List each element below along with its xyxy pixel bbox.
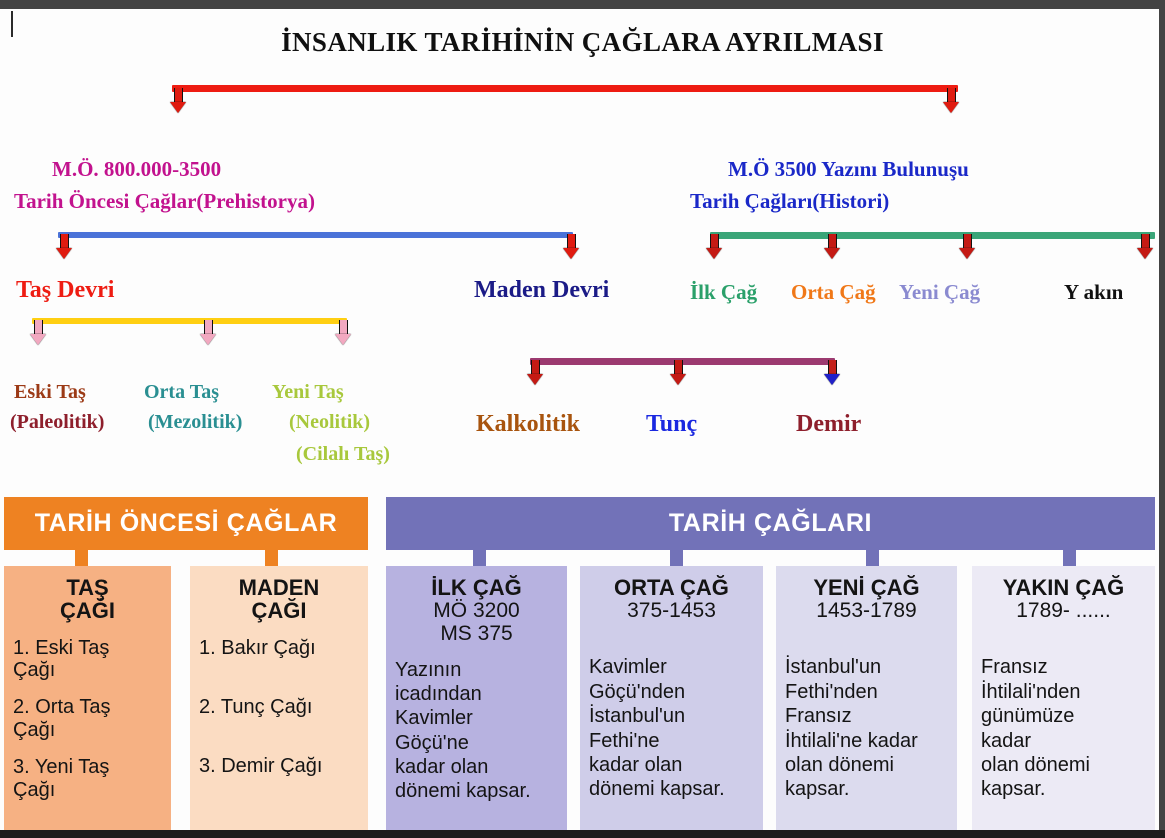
card-body: Yazının icadından Kavimler Göçü'ne kadar… [395, 658, 558, 804]
label-yakin-cag: Y akın [1064, 280, 1123, 305]
card-title: YAKIN ÇAĞ [981, 576, 1146, 599]
label-stone-age: Taş Devri [16, 277, 114, 304]
card-title: TAŞ ÇAĞI [13, 576, 162, 623]
label-orta-tas: Orta Taş [144, 381, 219, 404]
label-cilali-tas: (Cilalı Taş) [296, 443, 390, 466]
window-top-border [0, 0, 1165, 9]
label-history-name: Tarih Çağları(Histori) [690, 189, 889, 214]
card-subtitle: 1453-1789 [785, 599, 948, 622]
card-orta-cag[interactable]: ORTA ÇAĞ 375-1453 Kavimler Göçü'nden İst… [580, 566, 763, 830]
card-tas-cagi[interactable]: TAŞ ÇAĞI 1. Eski Taş Çağı 2. Orta Taş Ça… [4, 566, 171, 830]
arrow-kalkolitik [527, 360, 543, 385]
label-paleolitik: (Paleolitik) [10, 411, 104, 434]
connector-stem-maden [265, 550, 278, 566]
card-subtitle: MÖ 3200 MS 375 [395, 599, 558, 645]
window-bottom-border [0, 830, 1165, 838]
arrow-tunc [670, 360, 686, 385]
arrow-paleolitik [30, 320, 46, 345]
label-eski-tas: Eski Taş [14, 381, 86, 404]
label-prehistory-name: Tarih Öncesi Çağlar(Prehistorya) [14, 189, 315, 214]
label-demir: Demir [796, 411, 861, 438]
arrow-yeni-cag [959, 234, 975, 259]
label-mezolitik: (Mezolitik) [148, 411, 242, 434]
list-item: 3. Yeni Taş Çağı [13, 756, 162, 801]
arrow-top-right [943, 88, 959, 113]
card-yakin-cag[interactable]: YAKIN ÇAĞ 1789- ...... Fransız İhtilali'… [972, 566, 1155, 830]
list-item: 3. Demir Çağı [199, 755, 359, 777]
label-tunc: Tunç [646, 411, 697, 438]
card-body: Kavimler Göçü'nden İstanbul'un Fethi'ne … [589, 655, 754, 801]
arrow-stone-age [56, 234, 72, 259]
card-subtitle: 375-1453 [589, 599, 754, 622]
section-header-history: TARİH ÇAĞLARI [386, 497, 1155, 550]
label-history-date: M.Ö 3500 Yazını Bulunuşu [728, 157, 969, 182]
label-prehistory-date: M.Ö. 800.000-3500 [52, 157, 221, 182]
label-yeni-tas: Yeni Taş [272, 381, 344, 404]
slide-canvas: İNSANLIK TARİHİNİN ÇAĞLARA AYRILMASI M.Ö… [0, 0, 1165, 838]
page-title: İNSANLIK TARİHİNİN ÇAĞLARA AYRILMASI [0, 27, 1165, 58]
card-ilk-cag[interactable]: İLK ÇAĞ MÖ 3200 MS 375 Yazının icadından… [386, 566, 567, 830]
card-body: İstanbul'un Fethi'nden Fransız İhtilali'… [785, 655, 948, 801]
card-maden-cagi[interactable]: MADEN ÇAĞI 1. Bakır Çağı 2. Tunç Çağı 3.… [190, 566, 368, 830]
label-neolitik: (Neolitik) [289, 411, 370, 434]
card-title: MADEN ÇAĞI [199, 576, 359, 623]
connector-stem-tas [75, 550, 88, 566]
arrow-orta-cag [824, 234, 840, 259]
arrow-demir [824, 360, 840, 385]
card-list: 1. Eski Taş Çağı 2. Orta Taş Çağı 3. Yen… [13, 637, 162, 801]
arrow-neolitik [335, 320, 351, 345]
connector-stem-orta [670, 550, 683, 566]
list-item: 2. Tunç Çağı [199, 696, 359, 718]
arrow-top-left [170, 88, 186, 113]
section-header-prehistory: TARİH ÖNCESİ ÇAĞLAR [4, 497, 368, 550]
label-ilk-cag: İlk Çağ [690, 280, 757, 305]
card-list: 1. Bakır Çağı 2. Tunç Çağı 3. Demir Çağı [199, 637, 359, 778]
bar-prehistory-blue [58, 232, 573, 238]
arrow-mezolitik [200, 320, 216, 345]
bar-top-red [172, 85, 958, 92]
card-body: Fransız İhtilali'nden günümüze kadar ola… [981, 655, 1146, 801]
card-title: YENİ ÇAĞ [785, 576, 948, 599]
card-title: İLK ÇAĞ [395, 576, 558, 599]
bar-stone-yellow [32, 318, 347, 324]
arrow-yakin-cag [1137, 234, 1153, 259]
card-yeni-cag[interactable]: YENİ ÇAĞ 1453-1789 İstanbul'un Fethi'nde… [776, 566, 957, 830]
label-kalkolitik: Kalkolitik [476, 411, 580, 438]
connector-stem-yakin [1063, 550, 1076, 566]
window-right-border [1159, 0, 1165, 838]
arrow-metal-age [563, 234, 579, 259]
list-item: 2. Orta Taş Çağı [13, 696, 162, 741]
bar-history-green [710, 232, 1155, 239]
card-subtitle: 1789- ...... [981, 599, 1146, 622]
card-title: ORTA ÇAĞ [589, 576, 754, 599]
list-item: 1. Eski Taş Çağı [13, 637, 162, 682]
label-orta-cag: Orta Çağ [791, 280, 876, 305]
label-metal-age: Maden Devri [474, 277, 609, 304]
connector-stem-yeni [866, 550, 879, 566]
label-yeni-cag: Yeni Çağ [899, 280, 980, 305]
arrow-ilk-cag [706, 234, 722, 259]
connector-stem-ilk [473, 550, 486, 566]
list-item: 1. Bakır Çağı [199, 637, 359, 659]
eras-summary-chart: TARİH ÖNCESİ ÇAĞLAR TAŞ ÇAĞI 1. Eski Taş… [0, 497, 1159, 830]
